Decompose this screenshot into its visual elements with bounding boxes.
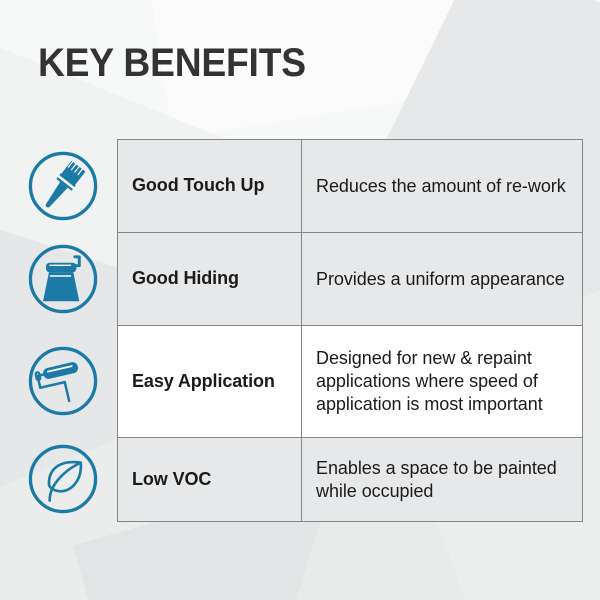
benefit-label: Good Touch Up — [118, 140, 302, 233]
leaf-icon — [26, 442, 100, 516]
icon-cell-good-touch-up — [17, 139, 109, 232]
benefit-label: Easy Application — [118, 326, 302, 438]
icon-cell-good-hiding — [17, 232, 109, 325]
paint-roller-icon — [26, 344, 100, 418]
benefit-description: Designed for new & repaint applications … — [302, 326, 583, 438]
table-row: Low VOC Enables a space to be painted wh… — [118, 438, 583, 522]
benefits-table: Good Touch Up Reduces the amount of re-w… — [117, 139, 583, 522]
benefit-description: Reduces the amount of re-work — [302, 140, 583, 233]
icon-cell-low-voc — [17, 436, 109, 522]
key-benefits-infographic: KEY BENEFITS — [0, 0, 600, 600]
icon-column — [17, 139, 109, 522]
table-row: Easy Application Designed for new & repa… — [118, 326, 583, 438]
paintbrush-icon — [26, 149, 100, 223]
benefit-label: Low VOC — [118, 438, 302, 522]
table-row: Good Touch Up Reduces the amount of re-w… — [118, 140, 583, 233]
page-title: KEY BENEFITS — [38, 41, 306, 86]
benefit-description: Provides a uniform appearance — [302, 233, 583, 326]
paint-roller-pouring-icon — [26, 242, 100, 316]
icon-cell-easy-application — [17, 325, 109, 436]
benefit-label: Good Hiding — [118, 233, 302, 326]
table-row: Good Hiding Provides a uniform appearanc… — [118, 233, 583, 326]
benefit-description: Enables a space to be painted while occu… — [302, 438, 583, 522]
